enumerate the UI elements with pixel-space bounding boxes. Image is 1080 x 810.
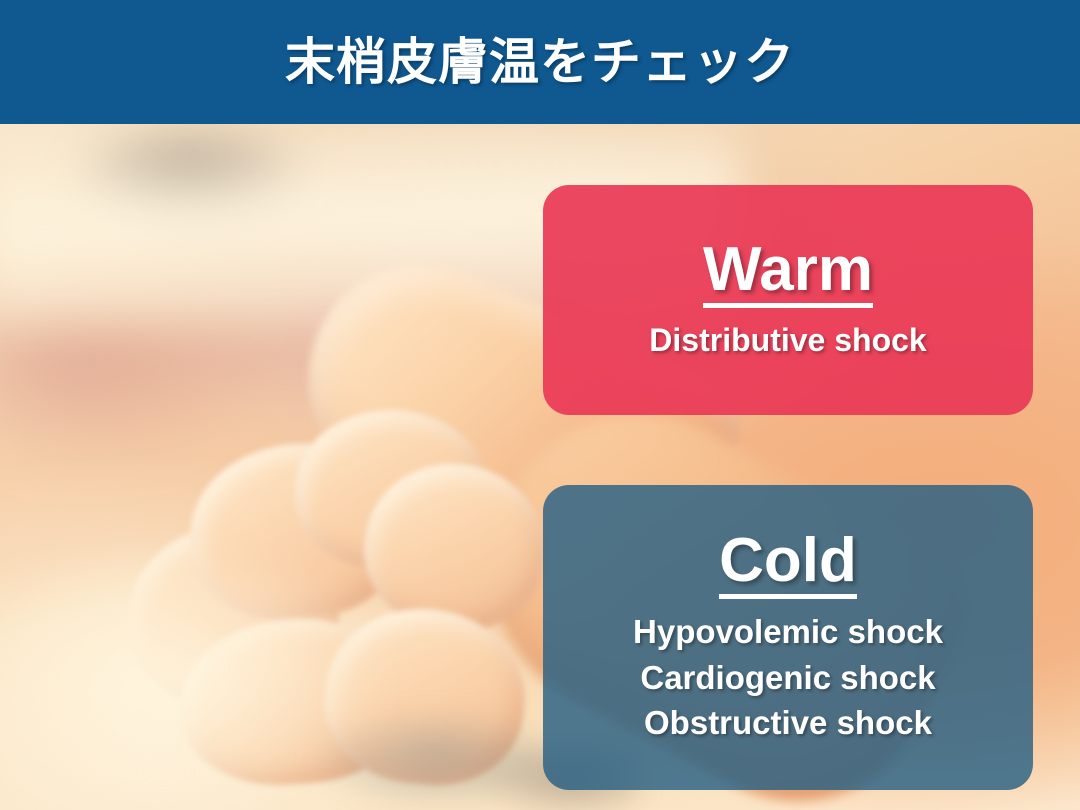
- cold-card-line: Obstructive shock: [633, 700, 943, 746]
- cold-card-line: Cardiogenic shock: [633, 655, 943, 701]
- header-bar: 末梢皮膚温をチェック: [0, 0, 1080, 124]
- warm-card-lines: Distributive shock: [649, 318, 926, 362]
- cold-card-line: Hypovolemic shock: [633, 609, 943, 655]
- cold-card-lines: Hypovolemic shock Cardiogenic shock Obst…: [633, 609, 943, 746]
- slide-root: 末梢皮膚温をチェック Warm Distributive shock Cold: [0, 0, 1080, 810]
- warm-card-line: Distributive shock: [649, 318, 926, 362]
- warm-card-heading: Warm: [703, 238, 873, 308]
- cold-shock-card: Cold Hypovolemic shock Cardiogenic shock…: [543, 485, 1033, 790]
- cold-card-heading: Cold: [719, 529, 857, 599]
- page-title: 末梢皮膚温をチェック: [285, 37, 795, 87]
- warm-shock-card: Warm Distributive shock: [543, 185, 1033, 415]
